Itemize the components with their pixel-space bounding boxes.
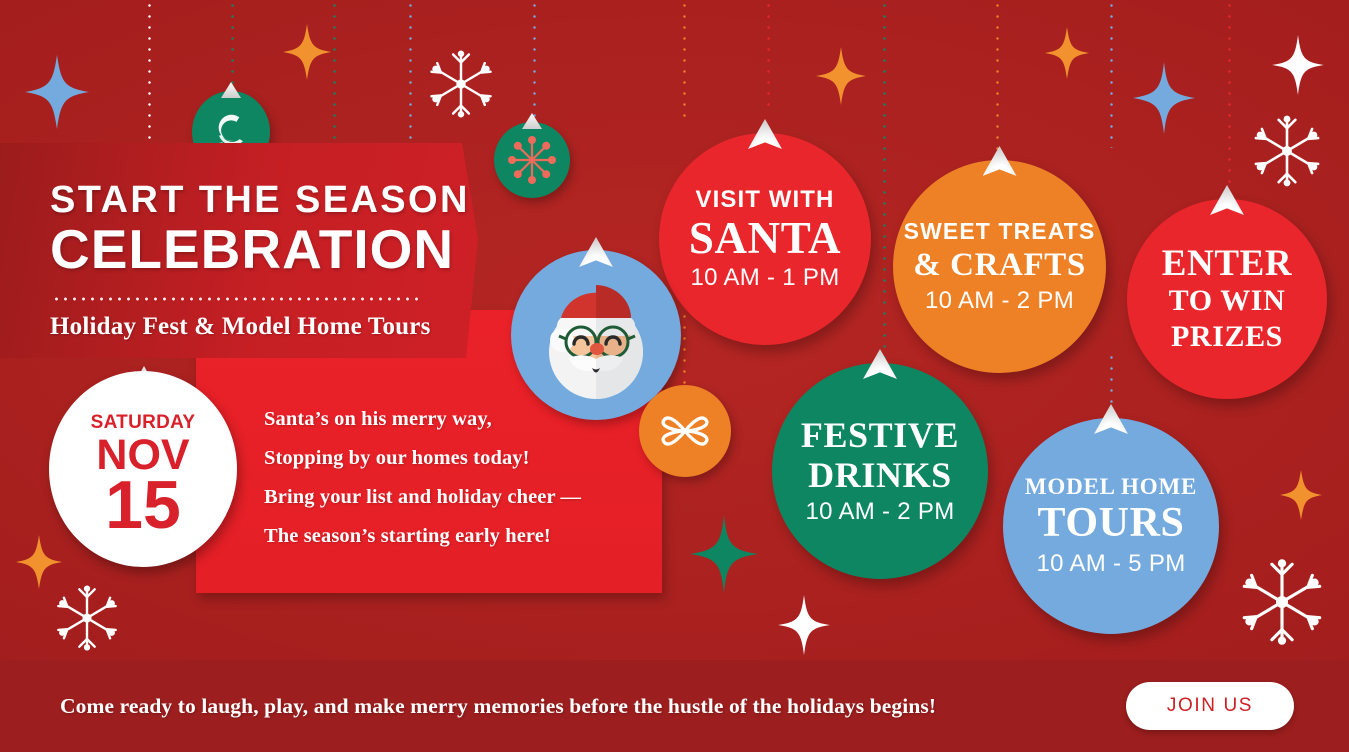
ornament-model-home-tours[interactable]: MODEL HOME TOURS 10 AM - 5 PM <box>1003 418 1219 634</box>
sparkle-star-icon <box>16 535 62 589</box>
ornament-time: 10 AM - 5 PM <box>1037 550 1186 578</box>
poem-text: Santa’s on his merry way, Stopping by ou… <box>264 400 644 556</box>
hanging-string-icon <box>767 0 770 112</box>
sparkle-star-icon <box>1045 27 1089 79</box>
ornament-cap-icon <box>221 82 241 98</box>
hanging-string-icon <box>231 0 234 92</box>
date-weekday: SATURDAY <box>91 413 196 432</box>
poem-line-4: The season’s starting early here! <box>264 517 644 556</box>
holiday-event-flyer: START THE SEASON CELEBRATION Holiday Fes… <box>0 0 1349 752</box>
bottom-message: Come ready to laugh, play, and make merr… <box>60 694 936 719</box>
sparkle-star-icon <box>690 515 758 593</box>
hanging-string-icon <box>533 0 536 120</box>
ornament-cap-icon <box>748 119 782 149</box>
ornament-time: 10 AM - 2 PM <box>925 287 1074 315</box>
ornament-label-line-1: MODEL HOME <box>1025 474 1197 500</box>
snowflake-icon <box>425 48 497 120</box>
ornament-time: 10 AM - 1 PM <box>691 264 840 292</box>
ornament-label-line-1: ENTER <box>1162 244 1292 284</box>
sparkle-star-icon <box>283 24 331 80</box>
ornament-visit-with-santa[interactable]: VISIT WITH SANTA 10 AM - 1 PM <box>659 133 871 345</box>
poem-line-3: Bring your list and holiday cheer — <box>264 478 644 517</box>
poem-line-2: Stopping by our homes today! <box>264 439 644 478</box>
ornament-cap-icon <box>522 113 542 129</box>
ornament-label-line-1: FESTIVE <box>801 416 959 456</box>
sparkle-star-icon <box>1272 35 1324 95</box>
sparkle-star-icon <box>778 595 830 655</box>
hanging-string-icon <box>683 0 686 125</box>
ornament-label-line-2: DRINKS <box>808 455 952 495</box>
sparkle-star-icon <box>1280 470 1322 520</box>
ornament-label-line-1: VISIT WITH <box>696 186 835 214</box>
ornament-cap-icon <box>1094 404 1128 434</box>
snowflake-icon <box>1249 113 1325 189</box>
ornament-cap-icon <box>863 349 897 379</box>
ornament-enter-to-win-prizes[interactable]: ENTER TO WIN PRIZES <box>1127 199 1327 399</box>
ornament-label-line-3: PRIZES <box>1171 319 1283 354</box>
sparkle-star-icon <box>25 55 89 129</box>
sparkle-star-icon <box>816 47 866 105</box>
title-banner: START THE SEASON CELEBRATION Holiday Fes… <box>0 143 478 358</box>
hanging-string-icon <box>996 0 999 152</box>
ornament-sweet-treats-crafts[interactable]: SWEET TREATS & CRAFTS 10 AM - 2 PM <box>893 160 1106 373</box>
hanging-string-icon <box>883 0 886 358</box>
snowflake-icon <box>52 583 122 653</box>
ornament-label-line-1: SWEET TREATS <box>904 218 1096 245</box>
hanging-string-icon <box>148 0 151 148</box>
date-badge: SATURDAY NOV 15 <box>49 371 237 567</box>
snowflake-icon <box>1236 556 1328 648</box>
ornament-festive-drinks[interactable]: FESTIVE DRINKS 10 AM - 2 PM <box>772 363 988 579</box>
ornament-label-line-2: & CRAFTS <box>913 245 1086 285</box>
title-line-1: START THE SEASON <box>50 181 478 219</box>
dotted-divider <box>52 297 420 301</box>
hanging-string-icon <box>1110 0 1113 148</box>
ornament-label-line-2: SANTA <box>689 214 841 263</box>
ornament-label-line-2: TOURS <box>1038 500 1185 547</box>
ornament-cap-icon <box>983 146 1017 176</box>
ornament-cap-icon <box>1210 185 1244 215</box>
ornament-label-line-2: TO WIN <box>1169 283 1286 318</box>
santa-face-icon <box>521 260 671 410</box>
date-day: 15 <box>105 474 181 537</box>
sparkle-star-icon <box>1133 62 1195 134</box>
bottom-cta-bar: Come ready to laugh, play, and make merr… <box>0 660 1349 752</box>
flower-ornament-icon <box>639 385 731 477</box>
starburst-ornament-icon <box>494 122 570 198</box>
banner-subtitle: Holiday Fest & Model Home Tours <box>50 313 478 341</box>
ornament-time: 10 AM - 2 PM <box>806 498 955 526</box>
join-us-button[interactable]: JOIN US <box>1126 682 1294 730</box>
title-line-2: CELEBRATION <box>50 219 478 281</box>
hanging-string-icon <box>1228 0 1231 205</box>
